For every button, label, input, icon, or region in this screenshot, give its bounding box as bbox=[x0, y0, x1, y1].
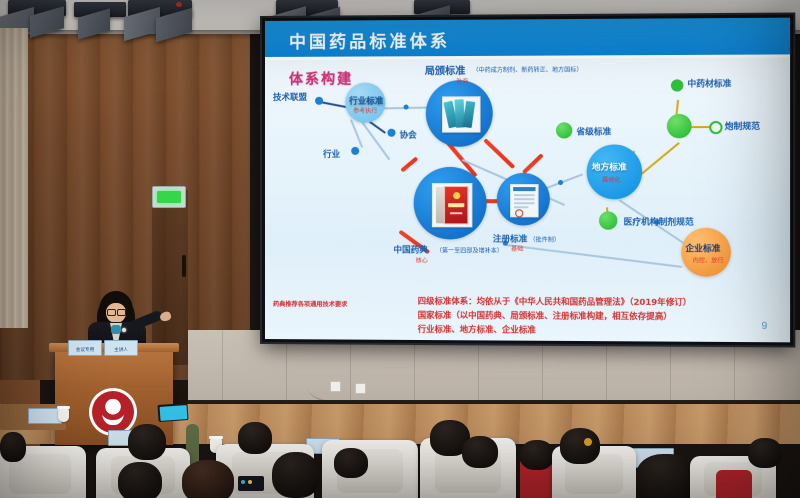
diagram-note-registration-standard: 基础 bbox=[511, 244, 523, 253]
tea-cup bbox=[58, 408, 69, 422]
audience-head bbox=[334, 448, 368, 478]
audience-head bbox=[272, 452, 320, 498]
nameplate-left-text: 会议专用 bbox=[69, 347, 101, 353]
slide-note-line: 国家标准（以中国药典、局颁标准、注册标准构建，相互依存提高） bbox=[418, 308, 692, 324]
diagram-edge-dot bbox=[404, 105, 409, 110]
nameplate-right: 主讲人 bbox=[104, 340, 138, 356]
presentation-slide: 中国药品标准体系 体系构建 bbox=[265, 18, 790, 343]
diagram-node-medical-institution-spec[interactable] bbox=[599, 211, 617, 229]
audience-head bbox=[128, 424, 166, 460]
diagram-sublabel-local-standard: 属地化 bbox=[602, 175, 620, 184]
diagram-label-medical-institution-spec: 医疗机构制剂规范 bbox=[624, 216, 694, 228]
smartphone-device bbox=[238, 476, 264, 491]
diagram-sublabel-enterprise-standard: 内控、放行 bbox=[693, 255, 724, 264]
glasses-icon bbox=[107, 309, 116, 316]
audience-head bbox=[182, 460, 234, 498]
diagram-edge-dot bbox=[558, 180, 563, 185]
diagram-node-processing-spec[interactable] bbox=[709, 121, 722, 134]
door-handle bbox=[182, 255, 186, 277]
microphone-head bbox=[103, 327, 108, 332]
diagram-label-bureau-standard: 局颁标准 bbox=[425, 62, 466, 77]
slide-bottom-notes: 四级标准体系：均依从于《中华人民共和国药品管理法》（2019年修订） 国家标准（… bbox=[418, 294, 692, 338]
registration-standard-thumbnail bbox=[510, 184, 539, 217]
diagram-sublabel-registration-standard: （批件制） bbox=[529, 235, 560, 244]
diagram-edge bbox=[350, 119, 363, 147]
audience-head bbox=[520, 440, 554, 470]
institution-emblem-icon bbox=[89, 388, 137, 436]
diagram-label-processing-spec: 炮制规范 bbox=[725, 120, 760, 132]
diagram-label-chinese-pharmacopoeia: 中国药典 bbox=[393, 243, 427, 255]
audience-head bbox=[462, 436, 498, 468]
audience-head bbox=[0, 432, 26, 462]
diagram-node-tcm-hub[interactable] bbox=[667, 114, 692, 138]
bureau-standard-thumbnail bbox=[442, 96, 481, 132]
speaker-brooch bbox=[122, 328, 126, 332]
diagram-node-tech-alliance[interactable] bbox=[315, 97, 323, 105]
diagram-label-local-standard: 地方标准 bbox=[592, 161, 627, 173]
diagram-node-tcm-material-standard[interactable] bbox=[671, 79, 683, 91]
slide-left-note: 药典推荐各项通用技术要求 bbox=[273, 299, 347, 308]
curtain bbox=[0, 28, 28, 328]
audience-person-red bbox=[716, 470, 752, 498]
diagram-label-provincial-standard: 省级标准 bbox=[576, 125, 611, 137]
slide-note-line: 四级标准体系：均依从于《中华人民共和国药品管理法》（2019年修订） bbox=[418, 294, 692, 309]
hair-clip bbox=[584, 438, 592, 446]
diagram-node-trade[interactable] bbox=[351, 147, 359, 155]
audience-head bbox=[560, 428, 600, 464]
slide-page-number: 9 bbox=[761, 321, 767, 332]
slide-section-title: 体系构建 bbox=[289, 69, 353, 89]
microphone-head bbox=[134, 325, 139, 330]
pharmacopoeia-thumbnail bbox=[432, 183, 473, 227]
diagram-edge-primary bbox=[522, 153, 544, 174]
screenshot-root: 中国药品标准体系 体系构建 bbox=[0, 0, 800, 498]
diagram-label-enterprise-standard: 企业标准 bbox=[685, 242, 720, 254]
diagram-node-provincial-standard[interactable] bbox=[556, 122, 572, 138]
audience-head bbox=[238, 422, 272, 454]
diagram-sublabel-bureau-standard: （中药成方制剂、新药转正、地方国标） bbox=[472, 65, 582, 75]
slide-note-line: 行业标准、地方标准、企业标准 bbox=[418, 322, 692, 338]
nameplate-left: 会议专用 bbox=[68, 340, 102, 356]
nameplate-right-text: 主讲人 bbox=[105, 347, 137, 353]
audience-head bbox=[118, 462, 162, 498]
spotlight-indicator bbox=[176, 2, 182, 7]
diagram-edge-primary bbox=[400, 156, 418, 172]
emergency-exit-icon bbox=[152, 186, 186, 208]
diagram-label-tcm-material-standard: 中药材标准 bbox=[687, 77, 731, 89]
diagram-sublabel-industry-standard: 参考执行 bbox=[353, 106, 377, 115]
diagram-note-chinese-pharmacopoeia: 核心 bbox=[416, 255, 428, 264]
slide-title: 中国药品标准体系 bbox=[289, 27, 450, 53]
projection-screen: 中国药品标准体系 体系构建 bbox=[262, 15, 793, 346]
audience-head bbox=[748, 438, 782, 468]
smartphone-device bbox=[157, 403, 188, 422]
diagram-label-tech-alliance: 技术联盟 bbox=[273, 91, 307, 103]
diagram-edge bbox=[503, 244, 682, 268]
table-nameplate bbox=[28, 408, 62, 424]
diagram-sublabel-chinese-pharmacopoeia: （第一至四部及增补本） bbox=[436, 245, 503, 254]
diagram-node-association[interactable] bbox=[387, 129, 395, 137]
diagram-label-trade: 行业 bbox=[323, 148, 340, 160]
diagram-note-bureau-standard: 补充 bbox=[456, 76, 468, 85]
audience-head bbox=[636, 454, 696, 498]
speaker-scarf bbox=[111, 325, 121, 334]
diagram-label-association: 协会 bbox=[400, 129, 417, 141]
diagram-edge-primary bbox=[483, 138, 515, 169]
glasses-icon bbox=[117, 309, 126, 316]
